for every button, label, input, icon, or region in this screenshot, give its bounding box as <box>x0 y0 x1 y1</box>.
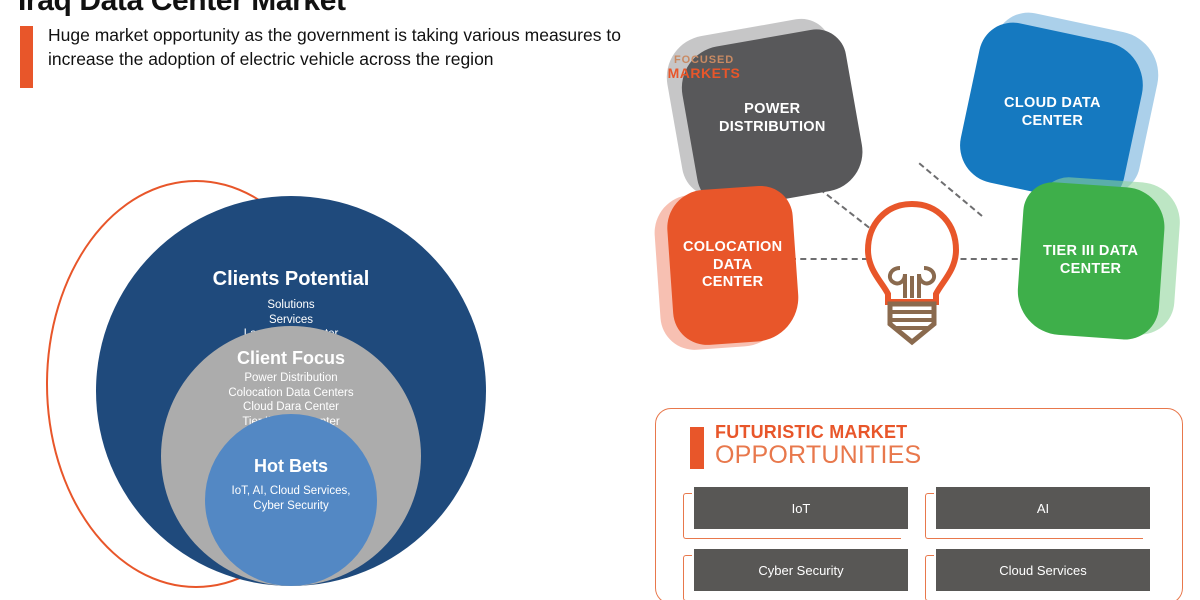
node-tier-label: TIER III DATA CENTER <box>1035 243 1146 278</box>
futuristic-title-line-2: OPPORTUNITIES <box>715 443 921 469</box>
card-wrap-ai: AI <box>934 485 1152 531</box>
node-tier-iii-data-center[interactable]: TIER III DATA CENTER <box>1015 180 1167 342</box>
card-cloud-services[interactable]: Cloud Services <box>934 547 1152 593</box>
circle-inner-labels: Hot Bets IoT, AI, Cloud Services, Cyber … <box>205 456 377 513</box>
futuristic-market-panel: FUTURISTIC MARKET OPPORTUNITIES IoT AI <box>655 408 1183 600</box>
accent-bar <box>20 26 33 88</box>
focused-markets-diagram: POWER DISTRIBUTION CLOUD DATA CENTER COL… <box>650 10 1200 400</box>
circle-hot-bets: Hot Bets IoT, AI, Cloud Services, Cyber … <box>205 414 377 586</box>
futuristic-title-block: FUTURISTIC MARKET OPPORTUNITIES <box>715 423 921 469</box>
card-cyber-security[interactable]: Cyber Security <box>692 547 910 593</box>
node-power-label: POWER DISTRIBUTION <box>711 101 834 136</box>
infographic-canvas: Iraq Data Center Market Huge market oppo… <box>0 0 1200 600</box>
node-colocation-label: COLOCATION DATA CENTER <box>675 239 790 292</box>
card-iot-label: IoT <box>792 501 811 516</box>
card-ai-label: AI <box>1037 501 1049 516</box>
futuristic-accent-bar <box>690 427 704 469</box>
futuristic-card-grid: IoT AI Cyber Security Cloud Services <box>692 485 1152 593</box>
connector-colocation-to-center <box>790 258 868 260</box>
card-iot[interactable]: IoT <box>692 485 910 531</box>
concentric-circles-diagram: Clients Potential Solutions Services Lar… <box>0 150 640 600</box>
card-wrap-iot: IoT <box>692 485 910 531</box>
subtitle-block: Huge market opportunity as the governmen… <box>20 24 660 88</box>
node-colocation-data-center[interactable]: COLOCATION DATA CENTER <box>665 184 802 347</box>
card-wrap-cloud-services: Cloud Services <box>934 547 1152 593</box>
card-wrap-cyber-security: Cyber Security <box>692 547 910 593</box>
futuristic-panel-header: FUTURISTIC MARKET OPPORTUNITIES <box>690 423 921 469</box>
node-cloud-label: CLOUD DATA CENTER <box>996 95 1109 130</box>
subtitle-text: Huge market opportunity as the governmen… <box>48 24 638 71</box>
card-ai[interactable]: AI <box>934 485 1152 531</box>
futuristic-title-line-1: FUTURISTIC MARKET <box>715 423 921 441</box>
circle-inner-items: IoT, AI, Cloud Services, Cyber Security <box>205 484 377 513</box>
lightbulb-icon <box>858 198 966 348</box>
circle-middle-heading: Client Focus <box>161 348 421 369</box>
page-title: Iraq Data Center Market <box>18 0 346 18</box>
card-cloud-services-label: Cloud Services <box>999 563 1086 578</box>
circle-outer-heading: Clients Potential <box>96 268 486 291</box>
card-cyber-security-label: Cyber Security <box>758 563 843 578</box>
circle-inner-heading: Hot Bets <box>205 456 377 477</box>
